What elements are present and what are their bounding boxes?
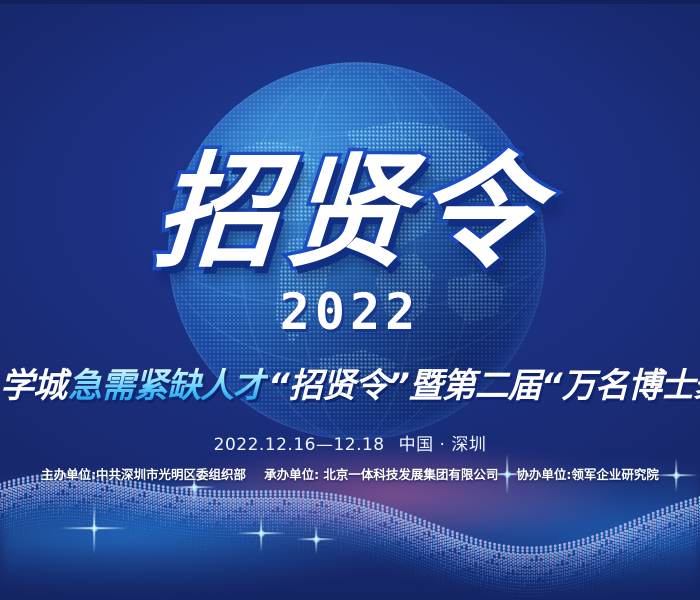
subtitle-tail: “招贤令”暨第二届“万名博士聚光明” [268, 366, 700, 406]
poster-year: 2022 [0, 283, 700, 341]
organiser-host: 主办单位:中共深圳市光明区委组织部 [41, 467, 246, 482]
poster-canvas: 招贤令 2022 学城急需紧缺人才“招贤令”暨第二届“万名博士聚光明” 2022… [0, 0, 700, 600]
year-text: 2022 [280, 283, 420, 341]
poster-main-title: 招贤令 [0, 150, 700, 276]
event-location: 中国 · 深圳 [399, 435, 487, 455]
subtitle-lead: 学城 [0, 366, 66, 406]
organiser-main: 承办单位: 北京一体科技发展集团有限公司 [264, 467, 498, 482]
organiser-co: 协办单位:领军企业研究院 [516, 467, 659, 482]
poster-subtitle: 学城急需紧缺人才“招贤令”暨第二届“万名博士聚光明” [0, 366, 700, 406]
event-date: 2022.12.16—12.18 [214, 435, 385, 455]
poster-dateline: 2022.12.16—12.18中国 · 深圳 [0, 430, 700, 455]
subtitle-accent: 急需紧缺人才 [66, 366, 268, 406]
top-edge-band [0, 0, 700, 4]
poster-organisers: 主办单位:中共深圳市光明区委组织部承办单位: 北京一体科技发展集团有限公司协办单… [0, 464, 700, 484]
bottom-fade [0, 544, 700, 600]
main-title-text: 招贤令 [151, 150, 550, 276]
